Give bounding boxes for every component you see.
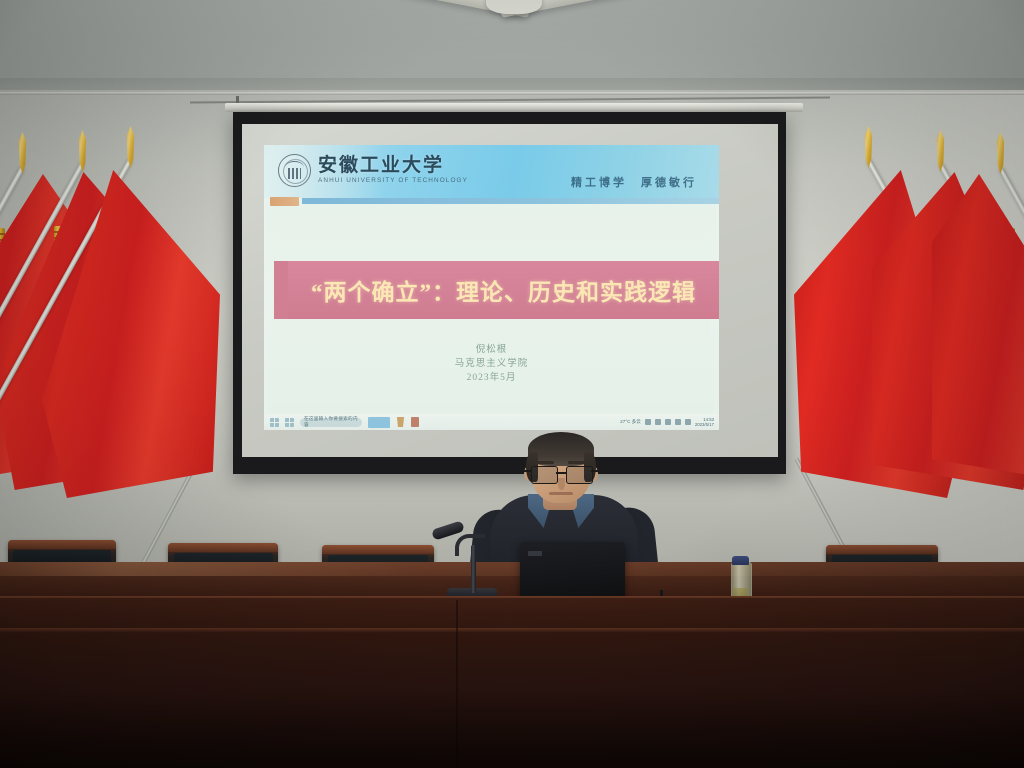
chair-rail — [168, 543, 278, 552]
task-view-icon[interactable] — [285, 418, 294, 427]
university-seal-icon — [278, 154, 311, 187]
presenter-eyebrow-left — [534, 461, 554, 464]
title-band: “两个确立”：理论、历史和实践逻辑 — [288, 261, 719, 319]
glasses-temple-left — [524, 470, 531, 472]
wall-rail — [0, 92, 1024, 95]
presenter-name: 倪松根 — [264, 343, 719, 357]
up-chevron-icon[interactable] — [645, 419, 651, 425]
slide-byline: 倪松根 马克思主义学院 2023年5月 — [264, 343, 719, 385]
lecture-room-photo: 安徽工业大学 ANHUI UNIVERSITY OF TECHNOLOGY 精工… — [0, 0, 1024, 768]
presenter-nose — [558, 478, 565, 490]
windows-taskbar[interactable]: 在这里输入你要搜索的内容 27°C 多云 14:53 2023/5/17 — [264, 414, 719, 430]
seal-bars — [288, 168, 301, 179]
glasses-bridge — [556, 472, 566, 474]
university-name-en: ANHUI UNIVERSITY OF TECHNOLOGY — [318, 178, 468, 184]
header-underline — [302, 198, 719, 204]
glasses-lens-left — [531, 466, 558, 484]
table-reflection — [0, 562, 1024, 576]
search-input[interactable]: 在这里输入你要搜索的内容 — [300, 418, 362, 427]
chair-rail — [826, 545, 938, 554]
presenter-department: 马克思主义学院 — [264, 357, 719, 371]
tea-bottle-cap — [732, 556, 749, 565]
projected-slide: 安徽工业大学 ANHUI UNIVERSITY OF TECHNOLOGY 精工… — [264, 145, 719, 430]
taskbar-tray-group: 27°C 多云 14:53 2023/5/17 — [620, 417, 719, 427]
cloud-icon[interactable] — [655, 419, 661, 425]
taskbar-app-wps-icon[interactable] — [396, 417, 405, 427]
taskbar-clock[interactable]: 14:53 2023/5/17 — [695, 417, 714, 427]
table-shadow — [0, 690, 1024, 768]
clock-date: 2023/5/17 — [695, 422, 714, 427]
glasses-lens-right — [566, 466, 593, 484]
chair-rail — [8, 540, 116, 549]
chair-rail — [322, 545, 434, 554]
volume-icon[interactable] — [675, 419, 681, 425]
presenter-eyebrow-right — [568, 461, 588, 464]
start-icon[interactable] — [270, 418, 279, 427]
network-icon[interactable] — [665, 419, 671, 425]
microphone-gooseneck — [455, 534, 485, 556]
glasses-temple-right — [591, 470, 598, 472]
battery-icon[interactable] — [685, 419, 691, 425]
slide-accent-chip — [270, 197, 299, 206]
table-front-moulding — [0, 628, 1024, 633]
taskbar-app-powerpoint-icon[interactable] — [411, 417, 419, 427]
laptop-logo — [528, 551, 542, 556]
university-name-cn: 安徽工业大学 — [318, 156, 468, 175]
taskbar-app-browser-icon[interactable] — [368, 417, 390, 428]
taskbar-left-group: 在这里输入你要搜索的内容 — [264, 417, 419, 428]
university-motto: 精工博学 厚德敏行 — [571, 174, 697, 190]
presentation-date: 2023年5月 — [264, 371, 719, 385]
slide-title: “两个确立”：理论、历史和实践逻辑 — [311, 273, 696, 307]
projector-screen-roller — [225, 103, 803, 112]
presenter-mouth — [549, 492, 573, 495]
weather-widget[interactable]: 27°C 多云 — [620, 419, 641, 425]
university-logo: 安徽工业大学 ANHUI UNIVERSITY OF TECHNOLOGY — [278, 154, 468, 187]
university-name-block: 安徽工业大学 ANHUI UNIVERSITY OF TECHNOLOGY — [318, 156, 468, 184]
